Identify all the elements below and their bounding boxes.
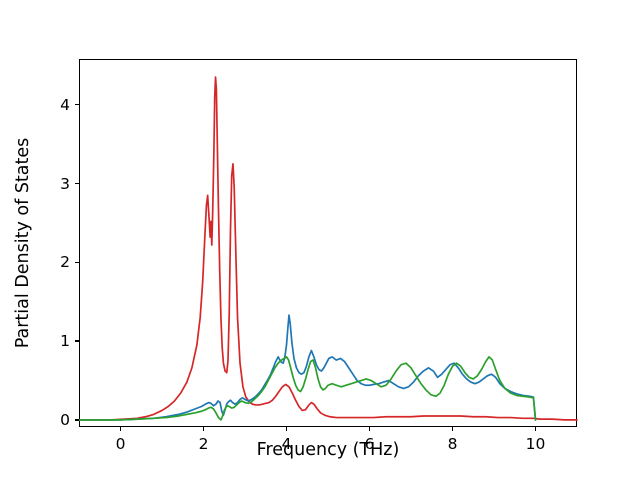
plot-area: [79, 59, 577, 427]
y-tick-label: 2: [60, 253, 70, 271]
y-tick-label: 4: [60, 96, 70, 114]
x-tick-label: 0: [116, 435, 126, 453]
y-tickmark: [75, 104, 79, 105]
x-tick-label: 2: [199, 435, 209, 453]
series-blue-species: [79, 315, 536, 420]
x-tickmark: [286, 427, 287, 431]
series-red-species: [79, 77, 577, 420]
pdos-curves: [79, 59, 577, 427]
y-tickmark: [75, 340, 79, 341]
x-tickmark: [452, 427, 453, 431]
y-axis-label: Partial Density of States: [13, 138, 33, 349]
y-tick-label: 3: [60, 175, 70, 193]
x-axis-label: Frequency (THz): [257, 440, 400, 460]
y-tickmark: [75, 183, 79, 184]
pdos-figure: 0246810 01234 Frequency (THz) Partial De…: [0, 0, 640, 480]
y-tickmark: [75, 262, 79, 263]
y-tickmark: [75, 419, 79, 420]
x-tickmark: [203, 427, 204, 431]
y-tick-label: 0: [60, 411, 70, 429]
x-tick-label: 8: [448, 435, 458, 453]
x-tickmark: [120, 427, 121, 431]
x-tick-label: 10: [526, 435, 546, 453]
x-tickmark: [535, 427, 536, 431]
x-tickmark: [369, 427, 370, 431]
y-tick-label: 1: [60, 332, 70, 350]
